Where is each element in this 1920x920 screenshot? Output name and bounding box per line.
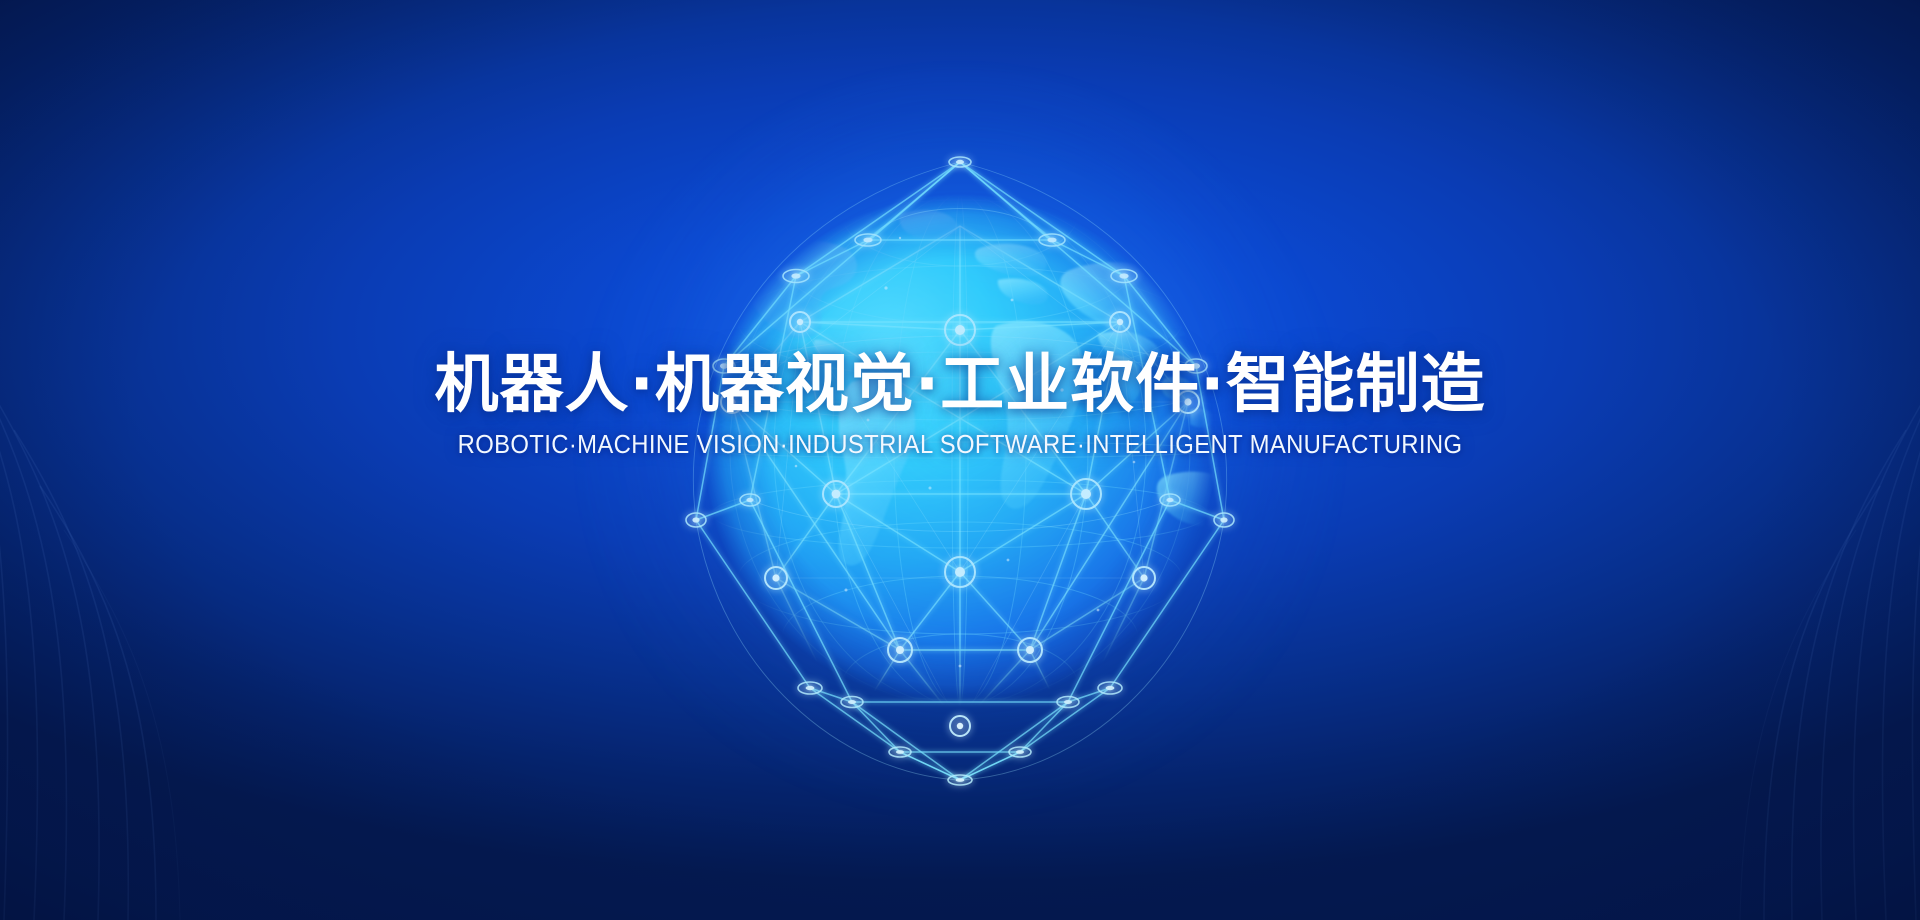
globe-outer-cage bbox=[696, 162, 1224, 780]
background-wisps-right bbox=[1620, 0, 1920, 920]
globe-continents bbox=[742, 203, 1240, 565]
globe-network-mesh-fine bbox=[732, 226, 1188, 730]
globe-graticule bbox=[704, 162, 1216, 738]
globe-sphere bbox=[704, 162, 1240, 738]
page-subtitle: ROBOTIC·MACHINE VISION·INDUSTRIAL SOFTWA… bbox=[62, 431, 1857, 460]
page-title: 机器人·机器视觉·工业软件·智能制造 bbox=[0, 352, 1920, 419]
globe-halo-arcs bbox=[693, 162, 1226, 780]
vignette-overlay bbox=[0, 0, 1920, 920]
globe-node-markers bbox=[686, 157, 1234, 785]
background-wisps-left bbox=[0, 0, 300, 920]
globe-svg bbox=[600, 90, 1320, 810]
globe-specks bbox=[795, 237, 1136, 668]
hero-banner: 机器人·机器视觉·工业软件·智能制造 ROBOTIC·MACHINE VISIO… bbox=[0, 0, 1920, 920]
globe-graphic bbox=[600, 90, 1320, 810]
globe-outer-glow bbox=[580, 70, 1340, 830]
globe-network-mesh-inner bbox=[732, 226, 1188, 730]
headline-block: 机器人·机器视觉·工业软件·智能制造 ROBOTIC·MACHINE VISIO… bbox=[0, 352, 1920, 460]
